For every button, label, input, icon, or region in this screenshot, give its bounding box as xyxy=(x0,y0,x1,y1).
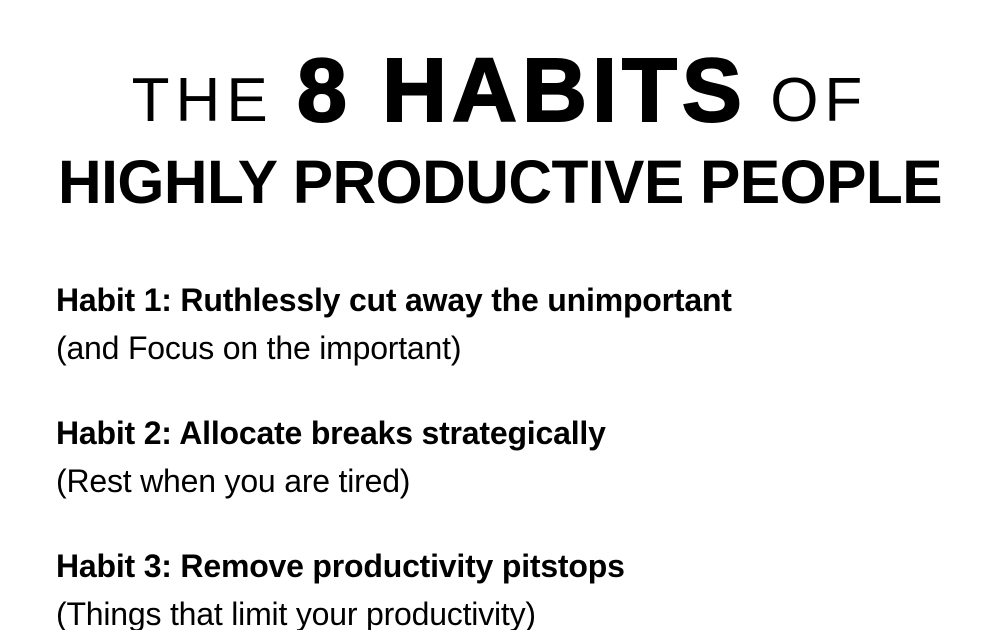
title-word-of: OF xyxy=(770,66,868,135)
title-word-the: THE xyxy=(132,66,274,135)
habit-subtitle: (and Focus on the important) xyxy=(56,324,986,372)
habit-title: Habit 1: Ruthlessly cut away the unimpor… xyxy=(56,276,986,324)
title-emphasis-8-habits: 8 HABITS xyxy=(297,41,747,141)
habit-subtitle: (Rest when you are tired) xyxy=(56,457,986,505)
title-line-primary: THE 8 HABITS OF xyxy=(0,46,1000,136)
habit-item: Habit 1: Ruthlessly cut away the unimpor… xyxy=(56,276,986,372)
title-space-2 xyxy=(747,66,770,135)
habits-list: Habit 1: Ruthlessly cut away the unimpor… xyxy=(56,276,986,630)
habit-subtitle: (Things that limit your productivity) xyxy=(56,590,986,630)
habit-title: Habit 3: Remove productivity pitstops xyxy=(56,542,986,590)
habit-item: Habit 2: Allocate breaks strategically (… xyxy=(56,409,986,505)
title-space-1 xyxy=(274,66,297,135)
title-line-secondary: HIGHLY PRODUCTIVE PEOPLE xyxy=(5,152,995,213)
slide-page: THE 8 HABITS OF HIGHLY PRODUCTIVE PEOPLE… xyxy=(0,0,1000,630)
habit-item: Habit 3: Remove productivity pitstops (T… xyxy=(56,542,986,630)
habit-title: Habit 2: Allocate breaks strategically xyxy=(56,409,986,457)
